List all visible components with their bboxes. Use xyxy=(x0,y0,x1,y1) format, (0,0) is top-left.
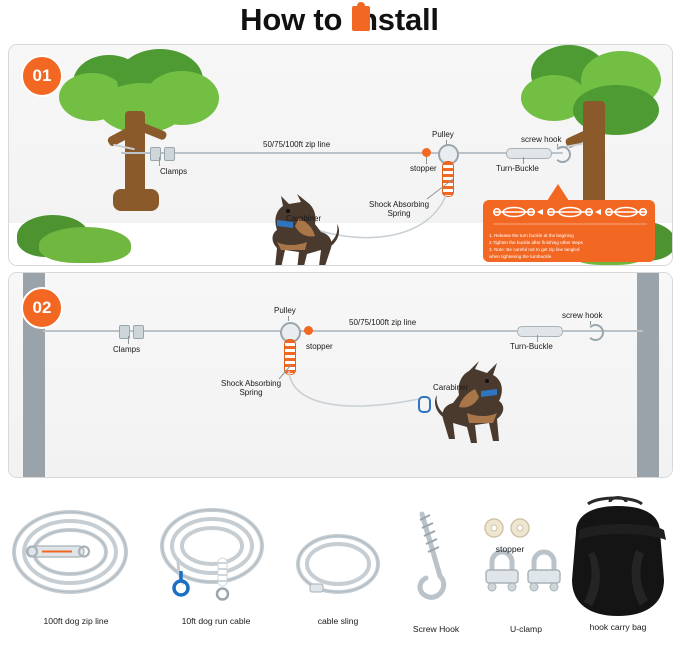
product-caption-0: 100ft dog zip line xyxy=(44,616,109,626)
label-stopper-1: stopper xyxy=(410,164,437,173)
label-zip-line-1: 50/75/100ft zip line xyxy=(263,140,330,149)
clamp-icon-4 xyxy=(133,325,144,339)
dog-illustration-1 xyxy=(247,188,343,266)
callout-1-line-4: when tightening the turnbuckle. xyxy=(489,253,651,260)
callout-1-text: 1. Release the turn buckle at the begini… xyxy=(489,232,651,260)
leader-clamps-1 xyxy=(159,157,160,166)
leader-pulley-2 xyxy=(288,316,289,321)
how-to-install-infographic: How to Install xyxy=(0,0,679,645)
callout-turnbuckle-instructions: 1. Release the turn buckle at the begini… xyxy=(483,200,655,262)
product-caption-2: cable sling xyxy=(318,616,359,626)
step-2-panel: Clamps Pulley 50/75/100ft zip line stopp… xyxy=(8,272,673,478)
leader-turn-buckle-1 xyxy=(523,157,524,164)
leader-screw-hook-2 xyxy=(590,321,591,325)
leader-turn-buckle-2 xyxy=(537,335,538,342)
step-1-badge: 01 xyxy=(21,55,63,97)
label-turn-buckle-1: Turn-Buckle xyxy=(496,164,539,173)
step-2-badge: 02 xyxy=(21,287,63,329)
product-row: 100ft dog zip line xyxy=(0,488,679,645)
product-caption-4: U-clamp xyxy=(510,624,542,634)
product-cable-sling: cable sling xyxy=(288,528,388,640)
stopper-icon xyxy=(422,148,431,157)
zip-line-wire xyxy=(121,152,563,154)
callout-1-pointer xyxy=(547,184,569,201)
callout-1-line-3: 3. Note: Be careful not to get zip line … xyxy=(489,246,651,253)
leader-spring-2 xyxy=(277,365,299,385)
leader-screw-hook-1 xyxy=(557,144,558,147)
leader-spring-1 xyxy=(417,179,457,205)
callout-1-line-2: 2.Tighten the buckle after finishing oth… xyxy=(489,239,651,246)
product-caption-1: 10ft dog run cable xyxy=(182,616,251,626)
screw-hook-icon xyxy=(554,146,571,163)
label-carabiner-1: Carabiner xyxy=(286,214,321,223)
callout-1-line-1: 1. Release the turn buckle at the begini… xyxy=(489,232,651,239)
leader-stopper-1 xyxy=(426,157,427,164)
product-hook-carry-bag: hook carry bag xyxy=(558,496,678,640)
product-caption-6: hook carry bag xyxy=(590,622,647,632)
product-dog-run-cable: 10ft dog run cable xyxy=(152,500,280,640)
label-carabiner-2: Carabiner xyxy=(433,383,468,392)
screw-hook-icon-2 xyxy=(587,324,604,341)
bush-left-2 xyxy=(39,227,131,263)
left-tree xyxy=(59,49,229,229)
label-pulley-1: Pulley xyxy=(432,130,454,139)
product-stopper: stopper xyxy=(462,516,558,562)
label-clamps-2: Clamps xyxy=(113,345,140,354)
turn-buckle-icon xyxy=(506,148,552,159)
step-1-panel: Clamps 50/75/100ft zip line Pulley stopp… xyxy=(8,44,673,266)
label-pulley-2: Pulley xyxy=(274,306,296,315)
wall-post-right xyxy=(637,273,659,477)
title-accent-mark xyxy=(352,6,370,31)
page-title-text: How to Install xyxy=(240,2,439,37)
stopper-icon-2 xyxy=(304,326,313,335)
label-shock-line-2b: Spring xyxy=(221,388,281,397)
dog-illustration-2 xyxy=(427,357,527,453)
label-zip-line-2: 50/75/100ft zip line xyxy=(349,318,416,327)
label-stopper-2: stopper xyxy=(306,342,333,351)
label-shock-line-1b: Shock Absorbing xyxy=(221,379,281,388)
product-caption-5: stopper xyxy=(496,544,525,554)
leader-clamps-2 xyxy=(128,336,129,344)
label-screw-hook-2: screw hook xyxy=(562,311,602,320)
clamp-icon-2 xyxy=(164,147,175,161)
callout-1-icons xyxy=(489,204,651,230)
leader-pulley-1 xyxy=(446,140,447,145)
label-clamps-1: Clamps xyxy=(160,167,187,176)
label-shock-absorbing-spring-2: Shock Absorbing Spring xyxy=(221,379,281,397)
label-shock-line-2: Spring xyxy=(369,209,429,218)
label-screw-hook-1: screw hook xyxy=(521,135,561,144)
product-caption-3: Screw Hook xyxy=(413,624,459,634)
product-dog-zip-line: 100ft dog zip line xyxy=(6,500,146,640)
turn-buckle-icon-2 xyxy=(517,326,563,337)
label-turn-buckle-2: Turn-Buckle xyxy=(510,342,553,351)
page-title: How to Install xyxy=(0,2,679,38)
